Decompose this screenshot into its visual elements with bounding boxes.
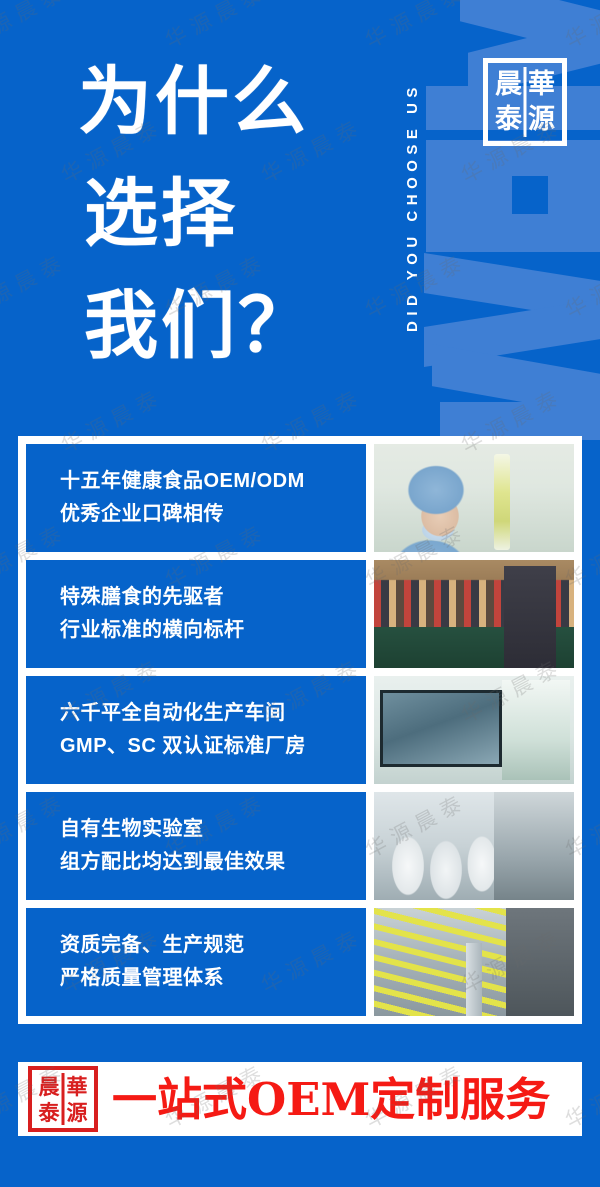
feature-line-2: 行业标准的横向标杆 [60,614,366,647]
brand-stamp-logo-footer: 華 源 晨 泰 [28,1066,98,1132]
stamp-char-yuan: 源 [528,106,555,133]
page-title: 为什么 选择 我们？ [78,46,378,382]
headline-line-3: 我们？ [78,270,378,382]
feature-text-block: 自有生物实验室 组方配比均达到最佳效果 [26,792,366,900]
conference-audience-photo [374,560,574,668]
photo-surface [374,792,574,900]
feature-text-block: 六千平全自动化生产车间 GMP、SC 双认证标准厂房 [26,676,366,784]
feature-list-frame: 十五年健康食品OEM/ODM 优秀企业口碑相传 特殊膳食的先驱者 行业标准的横向… [18,436,582,1024]
footer-slogan: 一站式OEM定制服务 [112,1077,550,1122]
feature-text-block: 特殊膳食的先驱者 行业标准的横向标杆 [26,560,366,668]
feature-rows: 十五年健康食品OEM/ODM 优秀企业口碑相传 特殊膳食的先驱者 行业标准的横向… [26,444,574,1016]
poster-canvas: 为什么 选择 我们？ DID YOU CHOOSE US 華 源 晨 泰 十五年… [0,0,600,1187]
headline-line-2: 选择 [78,158,378,270]
headline-line-1: 为什么 [78,46,378,158]
feature-line-2: 优秀企业口碑相传 [60,498,366,531]
stamp-char-hua: 華 [528,71,555,98]
vertical-tagline: DID YOU CHOOSE US [404,14,438,400]
photo-surface [374,560,574,668]
feature-text-block: 十五年健康食品OEM/ODM 优秀企业口碑相传 [26,444,366,552]
brand-stamp-logo-top: 華 源 晨 泰 [483,58,567,146]
feature-line-1: 自有生物实验室 [60,813,366,846]
feature-text-block: 资质完备、生产规范 严格质量管理体系 [26,908,366,1016]
cleanroom-corridor-photo [374,676,574,784]
feature-line-2: 组方配比均达到最佳效果 [60,846,366,879]
lab-technician-photo [374,444,574,552]
stamp-char-hua: 華 [67,1076,88,1097]
feature-line-1: 六千平全自动化生产车间 [60,697,366,730]
stamp-characters: 華 源 晨 泰 [492,67,558,137]
list-item[interactable]: 六千平全自动化生产车间 GMP、SC 双认证标准厂房 [26,676,574,784]
list-item[interactable]: 自有生物实验室 组方配比均达到最佳效果 [26,792,574,900]
stamp-char-tai: 泰 [495,106,522,133]
footer-banner: 華 源 晨 泰 一站式OEM定制服务 [18,1062,582,1136]
photo-surface [374,908,574,1016]
stamp-char-chen: 晨 [39,1076,60,1097]
feature-line-1: 特殊膳食的先驱者 [60,581,366,614]
stamp-characters: 華 源 晨 泰 [35,1073,91,1125]
list-item[interactable]: 特殊膳食的先驱者 行业标准的横向标杆 [26,560,574,668]
photo-surface [374,444,574,552]
stamp-char-yuan: 源 [67,1102,88,1123]
production-line-photo [374,792,574,900]
feature-line-1: 十五年健康食品OEM/ODM [60,465,366,498]
stamp-char-tai: 泰 [39,1102,60,1123]
list-item[interactable]: 资质完备、生产规范 严格质量管理体系 [26,908,574,1016]
poster-header: 为什么 选择 我们？ DID YOU CHOOSE US 華 源 晨 泰 [0,0,600,440]
feature-line-2: GMP、SC 双认证标准厂房 [60,730,366,763]
list-item[interactable]: 十五年健康食品OEM/ODM 优秀企业口碑相传 [26,444,574,552]
blister-packing-photo [374,908,574,1016]
feature-line-2: 严格质量管理体系 [60,962,366,995]
stamp-char-chen: 晨 [495,71,522,98]
feature-line-1: 资质完备、生产规范 [60,929,366,962]
photo-surface [374,676,574,784]
